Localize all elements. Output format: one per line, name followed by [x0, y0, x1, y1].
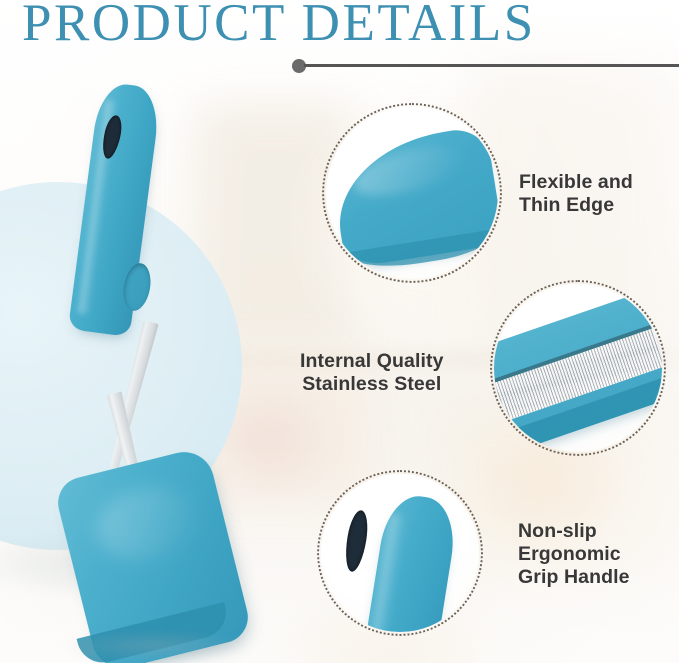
callout-dotted-ring	[317, 470, 483, 636]
header-divider	[292, 58, 679, 74]
divider-line	[304, 64, 679, 67]
callout-label-line: Thin Edge	[519, 194, 633, 217]
callout-label-line: Non-slip	[518, 520, 630, 543]
callout-label-line: Grip Handle	[518, 566, 630, 589]
callout-dotted-ring	[490, 280, 666, 456]
callout-label-internal-stainless-steel: Internal Quality Stainless Steel	[300, 350, 444, 396]
callout-circle-flexible-thin-edge	[322, 103, 502, 283]
product-image	[0, 0, 300, 663]
product-details-infographic: PRODUCT DETAILS Flexible and Thin Edge	[0, 0, 679, 663]
callout-label-line: Ergonomic	[518, 543, 630, 566]
callout-label-line: Internal Quality	[300, 350, 444, 373]
callout-label-flexible-thin-edge: Flexible and Thin Edge	[519, 171, 633, 217]
callout-label-non-slip-grip-handle: Non-slip Ergonomic Grip Handle	[518, 520, 630, 589]
callout-label-line: Flexible and	[519, 171, 633, 194]
callout-circle-internal-stainless-steel	[490, 280, 666, 456]
callout-label-line: Stainless Steel	[300, 373, 444, 396]
callout-dotted-ring	[322, 103, 502, 283]
product-blade-shadow	[60, 632, 250, 660]
callout-circle-non-slip-grip-handle	[317, 470, 483, 636]
